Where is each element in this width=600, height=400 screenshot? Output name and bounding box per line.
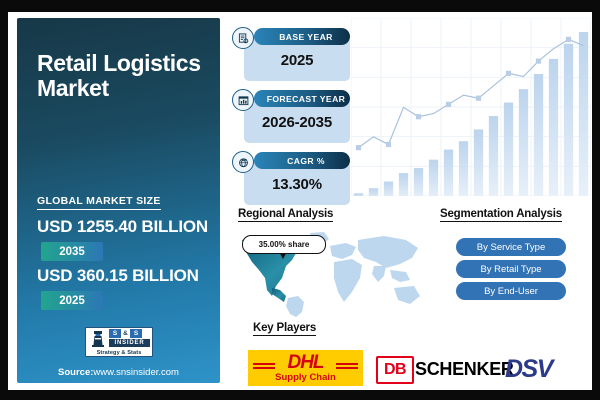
chart-marker (386, 142, 391, 147)
chart-bar (579, 32, 588, 196)
regional-analysis-heading: Regional Analysis (238, 208, 333, 222)
chart-bar (534, 74, 543, 196)
segment-by-end-user[interactable]: By End-User (456, 282, 566, 300)
key-players-heading: Key Players (253, 322, 316, 336)
chart-marker (536, 59, 541, 64)
chart-bar (399, 173, 408, 196)
dhl-subtitle: Supply Chain (248, 372, 363, 383)
logo-dsv: DSV (505, 356, 589, 382)
market-growth-chart (351, 18, 591, 196)
region-africa (334, 259, 362, 302)
chart-marker (566, 37, 571, 42)
badge-value: 2026-2035 (244, 114, 350, 131)
chart-marker (446, 102, 451, 107)
chart-bar (519, 89, 528, 196)
chart-marker (506, 71, 511, 76)
chart-bar (384, 182, 393, 196)
infographic-frame: Retail Logistics Market GLOBAL MARKET SI… (0, 0, 600, 400)
logo-dhl-supply-chain: DHL Supply Chain (248, 350, 363, 386)
dhl-wordmark: DHL (248, 352, 363, 374)
logo-db-mark: DB (376, 356, 414, 384)
chart-bar (474, 129, 483, 196)
infographic-canvas: Retail Logistics Market GLOBAL MARKET SI… (8, 12, 592, 390)
logo-s-left: S (109, 329, 121, 338)
region-south-america (286, 296, 304, 317)
source-prefix: Source: (58, 367, 93, 378)
chart-bar (489, 116, 498, 196)
badge-header: FORECAST YEAR (254, 90, 350, 107)
region-southeast-asia (390, 270, 410, 282)
source-url: www.snsinsider.com (93, 367, 179, 378)
base-market-value: USD 360.15 BILLION (37, 266, 199, 286)
region-asia (358, 236, 418, 268)
chart-marker (476, 96, 481, 101)
document-report-icon (232, 27, 254, 49)
globe-growth-icon (232, 151, 254, 173)
region-australia (394, 286, 420, 304)
region-india (372, 266, 386, 282)
chart-marker (356, 145, 361, 150)
lighthouse-icon (88, 329, 108, 349)
chart-bar (564, 44, 573, 196)
segmentation-analysis-heading: Segmentation Analysis (440, 208, 562, 222)
dsv-wordmark: DSV (505, 356, 556, 382)
badge-value: 2025 (244, 52, 350, 69)
logo-insider-text: INSIDER (109, 339, 150, 347)
chart-bar (444, 150, 453, 196)
region-share-badge: 35.00% share (242, 235, 326, 254)
chart-marker (416, 114, 421, 119)
base-year-chip: 2025 (41, 291, 103, 310)
forecast-market-value: USD 1255.40 BILLION (37, 217, 208, 237)
page-title: Retail Logistics Market (37, 51, 212, 101)
chart-bar (369, 188, 378, 196)
calendar-chart-icon (232, 89, 254, 111)
chart-bar (354, 193, 363, 196)
logo-tagline: Strategy & Stats (86, 350, 152, 356)
sns-wordmark: S & S INSIDER (109, 329, 150, 347)
region-central-america (272, 288, 286, 302)
chart-svg (351, 18, 591, 196)
chart-bar (414, 168, 423, 196)
forecast-year-chip: 2035 (41, 242, 103, 261)
world-map: 35.00% share (234, 226, 429, 318)
chart-bar (459, 141, 468, 196)
segment-by-retail-type[interactable]: By Retail Type (456, 260, 566, 278)
chart-bar (504, 103, 513, 196)
logo-ampersand: & (122, 329, 129, 338)
sns-insider-logo: S & S INSIDER Strategy & Stats (85, 327, 153, 357)
badge-header: CAGR % (254, 152, 350, 169)
badge-header: BASE YEAR (254, 28, 350, 45)
chart-bar (429, 160, 438, 196)
logo-schenker-wordmark: SCHENKER (415, 359, 514, 380)
segment-by-service-type[interactable]: By Service Type (456, 238, 566, 256)
global-market-size-label: GLOBAL MARKET SIZE (37, 195, 161, 210)
region-europe (330, 243, 356, 259)
logo-s-right: S (130, 329, 142, 338)
left-summary-panel: Retail Logistics Market GLOBAL MARKET SI… (17, 18, 220, 383)
chart-bar (549, 59, 558, 196)
badge-value: 13.30% (244, 176, 350, 193)
source-line: Source:www.snsinsider.com (17, 367, 220, 378)
